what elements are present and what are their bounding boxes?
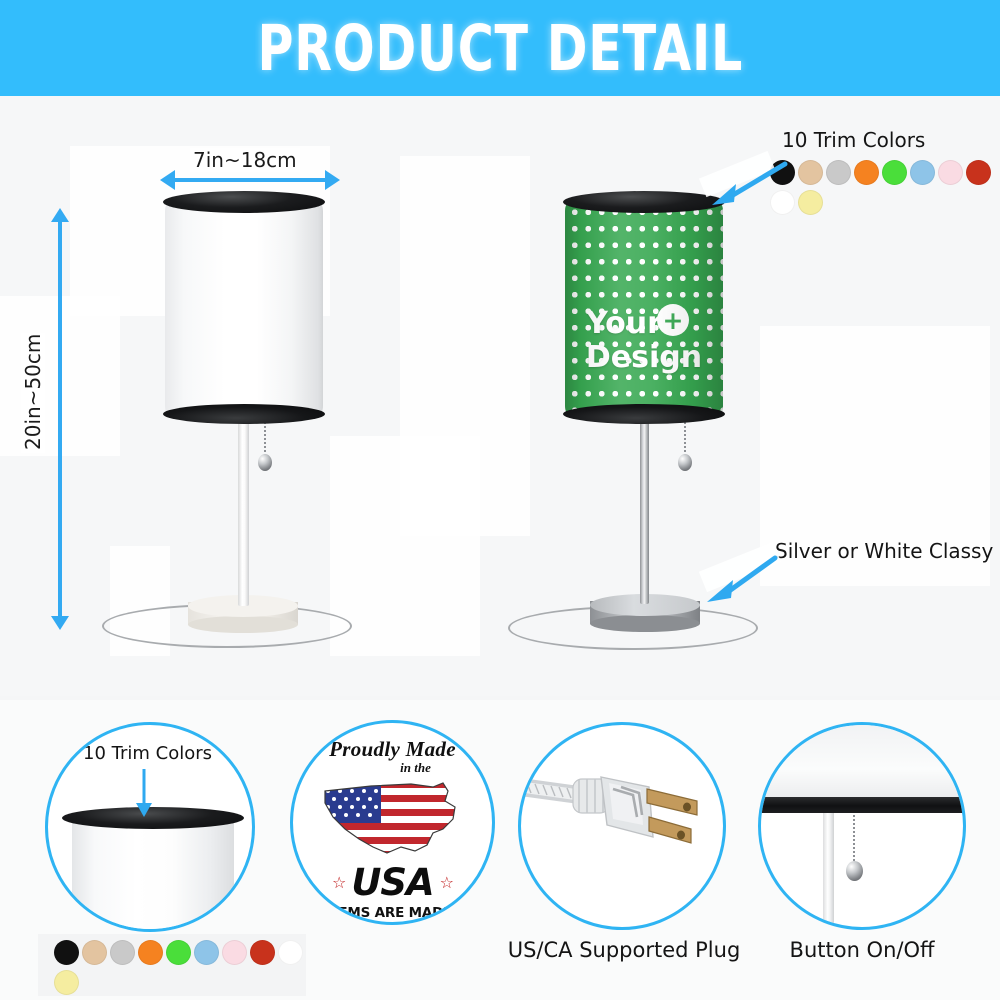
- swatch-white[interactable]: [278, 940, 303, 965]
- lamp-shade-white: [165, 201, 323, 416]
- bottom-swatch-row[interactable]: [54, 940, 309, 1000]
- base-bottom: [590, 615, 700, 632]
- switch-pull-chain: [853, 815, 855, 867]
- trim-colors-card: 10 Trim Colors: [45, 722, 255, 932]
- plug-card-caption: US/CA Supported Plug: [500, 938, 748, 962]
- swatch-light-gray[interactable]: [110, 940, 135, 965]
- switch-pull-bead[interactable]: [846, 861, 863, 881]
- usa-badge: Proudly Made in the: [293, 723, 492, 922]
- swatch-black[interactable]: [54, 940, 79, 965]
- product-showcase-stage: 7in~18cm 20in~50cm: [0, 96, 1000, 696]
- pull-chain: [684, 418, 686, 458]
- swatch-tan[interactable]: [798, 160, 823, 185]
- switch-card-pole: [823, 813, 834, 930]
- swatch-red[interactable]: [966, 160, 991, 185]
- swatch-green[interactable]: [166, 940, 191, 965]
- star-icon-left: ☆: [332, 873, 345, 892]
- swatch-light-blue[interactable]: [910, 160, 935, 185]
- usa-flag-map-icon: [315, 777, 471, 863]
- swatch-orange[interactable]: [854, 160, 879, 185]
- switch-card-caption: Button On/Off: [742, 938, 982, 962]
- usa-badge-word-row: ☆ USA ☆: [332, 861, 453, 904]
- usa-badge-tagline: ALL ITEMS ARE MADE TO ORDER!: [293, 905, 492, 925]
- trim-colors-card-label: 10 Trim Colors: [83, 743, 212, 764]
- pull-chain: [264, 418, 266, 458]
- switch-card-shade: [758, 722, 966, 803]
- switch-card: [758, 722, 966, 930]
- swatch-pink[interactable]: [938, 160, 963, 185]
- swatch-yellow[interactable]: [798, 190, 823, 215]
- swatch-light-blue[interactable]: [194, 940, 219, 965]
- plug-card: [518, 722, 726, 930]
- page-header-banner: PRODUCT DETAIL: [0, 0, 1000, 96]
- usa-badge-line1: Proudly Made: [329, 737, 456, 762]
- usa-badge-line2: in the: [400, 760, 431, 776]
- plug-illustration: [521, 725, 723, 927]
- pull-chain-bead: [678, 454, 692, 471]
- lamp-shade-green: Your Design +: [565, 201, 723, 416]
- usa-badge-word: USA: [351, 861, 433, 904]
- shade-surface: Your Design +: [565, 201, 723, 416]
- mini-shade-surface: [72, 819, 234, 932]
- lamp-pole-white: [238, 416, 249, 606]
- trim-colors-card-arrow-icon: [132, 767, 156, 819]
- swatch-orange[interactable]: [138, 940, 163, 965]
- trim-colors-swatch-row[interactable]: [770, 160, 1000, 220]
- pull-chain-bead: [258, 454, 272, 471]
- swatch-yellow[interactable]: [54, 970, 79, 995]
- shade-surface: [165, 201, 323, 416]
- swatch-pink[interactable]: [222, 940, 247, 965]
- star-icon-right: ☆: [440, 873, 453, 892]
- shade-trim-top: [163, 191, 325, 213]
- lamp-pole-silver: [640, 416, 649, 604]
- base-finish-pointer-arrow-icon: [695, 548, 785, 608]
- swatch-red[interactable]: [250, 940, 275, 965]
- page-title: PRODUCT DETAIL: [257, 12, 743, 85]
- trim-colors-label: 10 Trim Colors: [782, 128, 925, 152]
- trim-colors-pointer-arrow-icon: [700, 158, 790, 208]
- swatch-green[interactable]: [882, 160, 907, 185]
- shade-trim-bottom: [163, 404, 325, 424]
- feature-cards-row: 10 Trim Colors Proudly Made in the: [0, 700, 1000, 1000]
- base-bottom: [188, 616, 298, 633]
- lamp-left-white: [0, 96, 500, 696]
- shade-trim-bottom: [563, 404, 725, 424]
- switch-card-trim: [758, 797, 966, 813]
- shade-shading-overlay: [565, 201, 723, 416]
- base-finish-label: Silver or White Classy: [775, 539, 993, 563]
- made-in-usa-card: Proudly Made in the: [290, 720, 495, 925]
- swatch-tan[interactable]: [82, 940, 107, 965]
- swatch-light-gray[interactable]: [826, 160, 851, 185]
